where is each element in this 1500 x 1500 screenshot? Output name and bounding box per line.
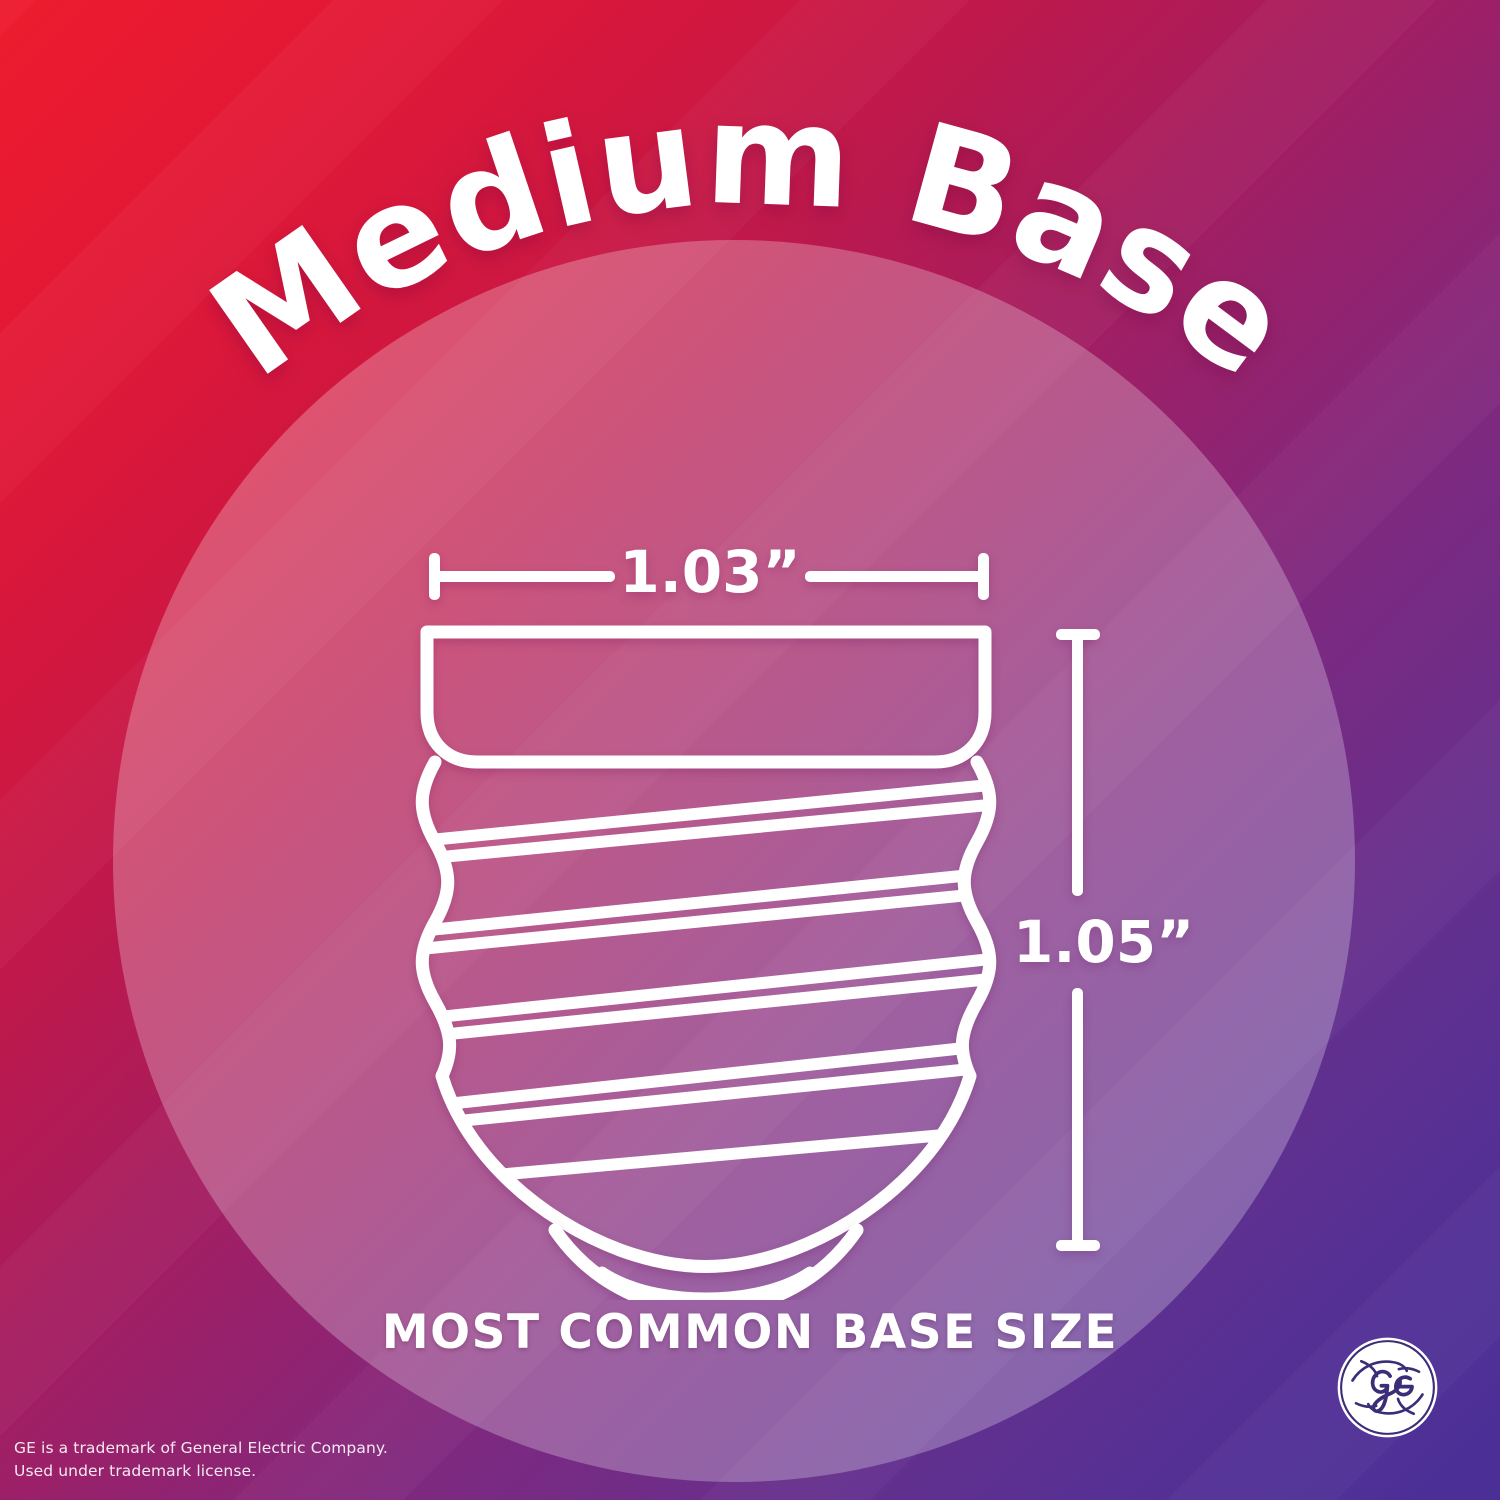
ge-logo: [1335, 1335, 1440, 1440]
trademark-line-2: Used under trademark license.: [14, 1460, 388, 1482]
width-dim-left-bar: [435, 571, 615, 582]
trademark-line-1: GE is a trademark of General Electric Co…: [14, 1437, 388, 1459]
page-title: Medium Base: [0, 60, 1500, 420]
screw-thread-helix-lines: [410, 782, 1020, 1180]
width-dimension-line: 1.03”: [429, 538, 989, 606]
height-dim-label: 1.05”: [1013, 908, 1194, 976]
product-spec-graphic: Medium Base 1.03”: [0, 0, 1500, 1500]
caption-text: MOST COMMON BASE SIZE: [0, 1305, 1500, 1360]
width-dim-right-bar: [805, 571, 983, 582]
base-collar: [427, 632, 985, 762]
trademark-notice: GE is a trademark of General Electric Co…: [14, 1437, 388, 1482]
height-dim-lower-bar: [1072, 988, 1083, 1246]
width-dim-label: 1.03”: [619, 538, 800, 606]
page-title-text: Medium Base: [183, 73, 1319, 410]
height-dimension-line: 1.05”: [1000, 610, 1240, 1270]
height-dim-upper-bar: [1072, 634, 1083, 896]
